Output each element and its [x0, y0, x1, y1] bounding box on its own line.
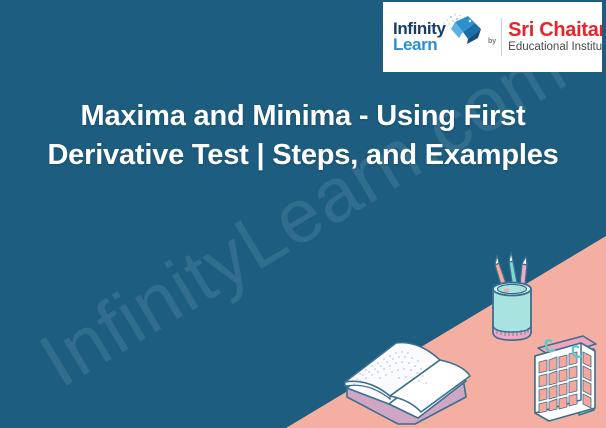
- logo-divider: [501, 18, 502, 56]
- sri-chaitanya-title: Sri Chaitanya: [508, 20, 596, 40]
- infinity-learn-wordmark: Infinity Learn: [393, 21, 446, 52]
- page-title: Maxima and Minima - Using First Derivati…: [28, 97, 578, 174]
- infinity-learn-logo: Infinity Learn: [391, 8, 483, 66]
- logo-connector-by: by: [483, 38, 501, 45]
- brand-logo-lockup: Infinity Learn by Sri Chaitanya Educatio…: [383, 2, 602, 72]
- banner-image: InfinityLearn.com Infinity Learn by: [0, 0, 606, 428]
- sri-chaitanya-subtitle: Educational Institutions: [508, 40, 596, 54]
- logo-line-learn: Learn: [393, 37, 446, 53]
- sri-chaitanya-logo: Sri Chaitanya Educational Institutions: [508, 20, 596, 54]
